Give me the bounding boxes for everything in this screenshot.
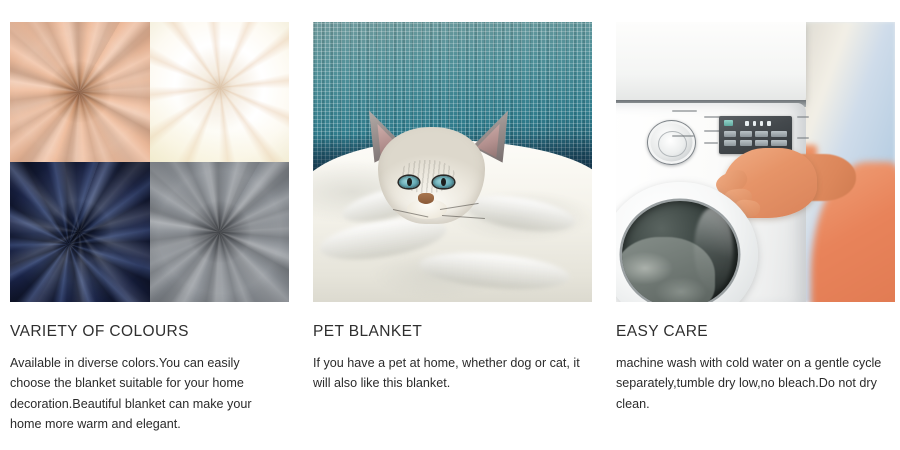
cat [366, 106, 511, 235]
washing-machine-image [616, 22, 895, 302]
panel-text-label [704, 130, 721, 132]
cat-on-blanket-image [313, 22, 592, 302]
panel-text-label [704, 116, 721, 118]
feature-body-easy-care: machine wash with cold water on a gentle… [616, 353, 884, 414]
peach-swatch [10, 22, 150, 162]
panel-button[interactable] [755, 131, 767, 137]
cat-scene [313, 22, 592, 302]
cat-head [378, 127, 485, 225]
status-led [767, 121, 771, 126]
panel-text-label [797, 137, 808, 139]
cream-swatch [150, 22, 290, 162]
stacked-dryer-unit [616, 22, 806, 106]
panel-button[interactable] [740, 131, 752, 137]
panel-button[interactable] [724, 140, 736, 146]
feature-column-easy-care: EASY CARE machine wash with cold water o… [616, 22, 895, 450]
panel-button[interactable] [771, 131, 786, 137]
laundry-scene [616, 22, 895, 302]
cat-pupil-right [441, 178, 446, 187]
washer-door-glass [622, 201, 738, 302]
feature-column-pet-blanket: PET BLANKET If you have a pet at home, w… [313, 22, 592, 450]
fabric-swatch-grid-image [10, 22, 289, 302]
status-led [745, 121, 749, 126]
swatch-grid [10, 22, 289, 302]
cat-whisker [442, 215, 485, 219]
power-indicator[interactable] [724, 120, 733, 125]
panel-button[interactable] [755, 140, 767, 146]
glass-glare [694, 207, 733, 291]
feature-column-variety-of-colours: VARIETY OF COLOURS Available in diverse … [10, 22, 289, 450]
cat-eye-right [433, 176, 453, 189]
feature-title-easy-care: EASY CARE [616, 323, 895, 341]
status-led [753, 121, 757, 126]
feature-grid: VARIETY OF COLOURS Available in diverse … [0, 0, 900, 450]
panel-text-label [797, 116, 808, 118]
panel-button[interactable] [740, 140, 752, 146]
feature-body-pet-blanket: If you have a pet at home, whether dog o… [313, 353, 581, 394]
status-led [760, 121, 764, 126]
feature-title-variety-of-colours: VARIETY OF COLOURS [10, 323, 289, 341]
feature-body-variety-of-colours: Available in diverse colors.You can easi… [10, 353, 278, 435]
panel-button[interactable] [771, 140, 786, 146]
navy-swatch [10, 162, 150, 302]
feature-title-pet-blanket: PET BLANKET [313, 323, 592, 341]
cat-pupil-left [407, 178, 412, 187]
gray-swatch [150, 162, 290, 302]
panel-button[interactable] [724, 131, 736, 137]
panel-text-label [672, 110, 697, 112]
